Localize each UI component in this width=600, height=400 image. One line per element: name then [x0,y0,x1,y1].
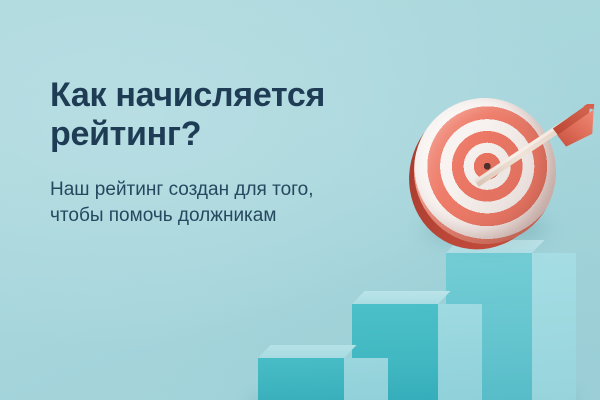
bar-top-face [352,291,451,304]
bar-front-face [258,358,344,400]
page-title: Как начисляется рейтинг? [50,76,400,154]
promo-banner: Как начисляется рейтинг? Наш рейтинг соз… [0,0,600,400]
text-block: Как начисляется рейтинг? Наш рейтинг соз… [50,76,400,230]
bar-top-face [258,345,357,358]
arrow-icon [466,104,598,188]
page-subtitle: Наш рейтинг создан для того, чтобы помоч… [50,177,370,231]
bar-short [258,358,344,400]
bar-side-face [344,358,388,400]
bar-side-face [532,253,576,400]
bar-side-face [438,304,482,400]
